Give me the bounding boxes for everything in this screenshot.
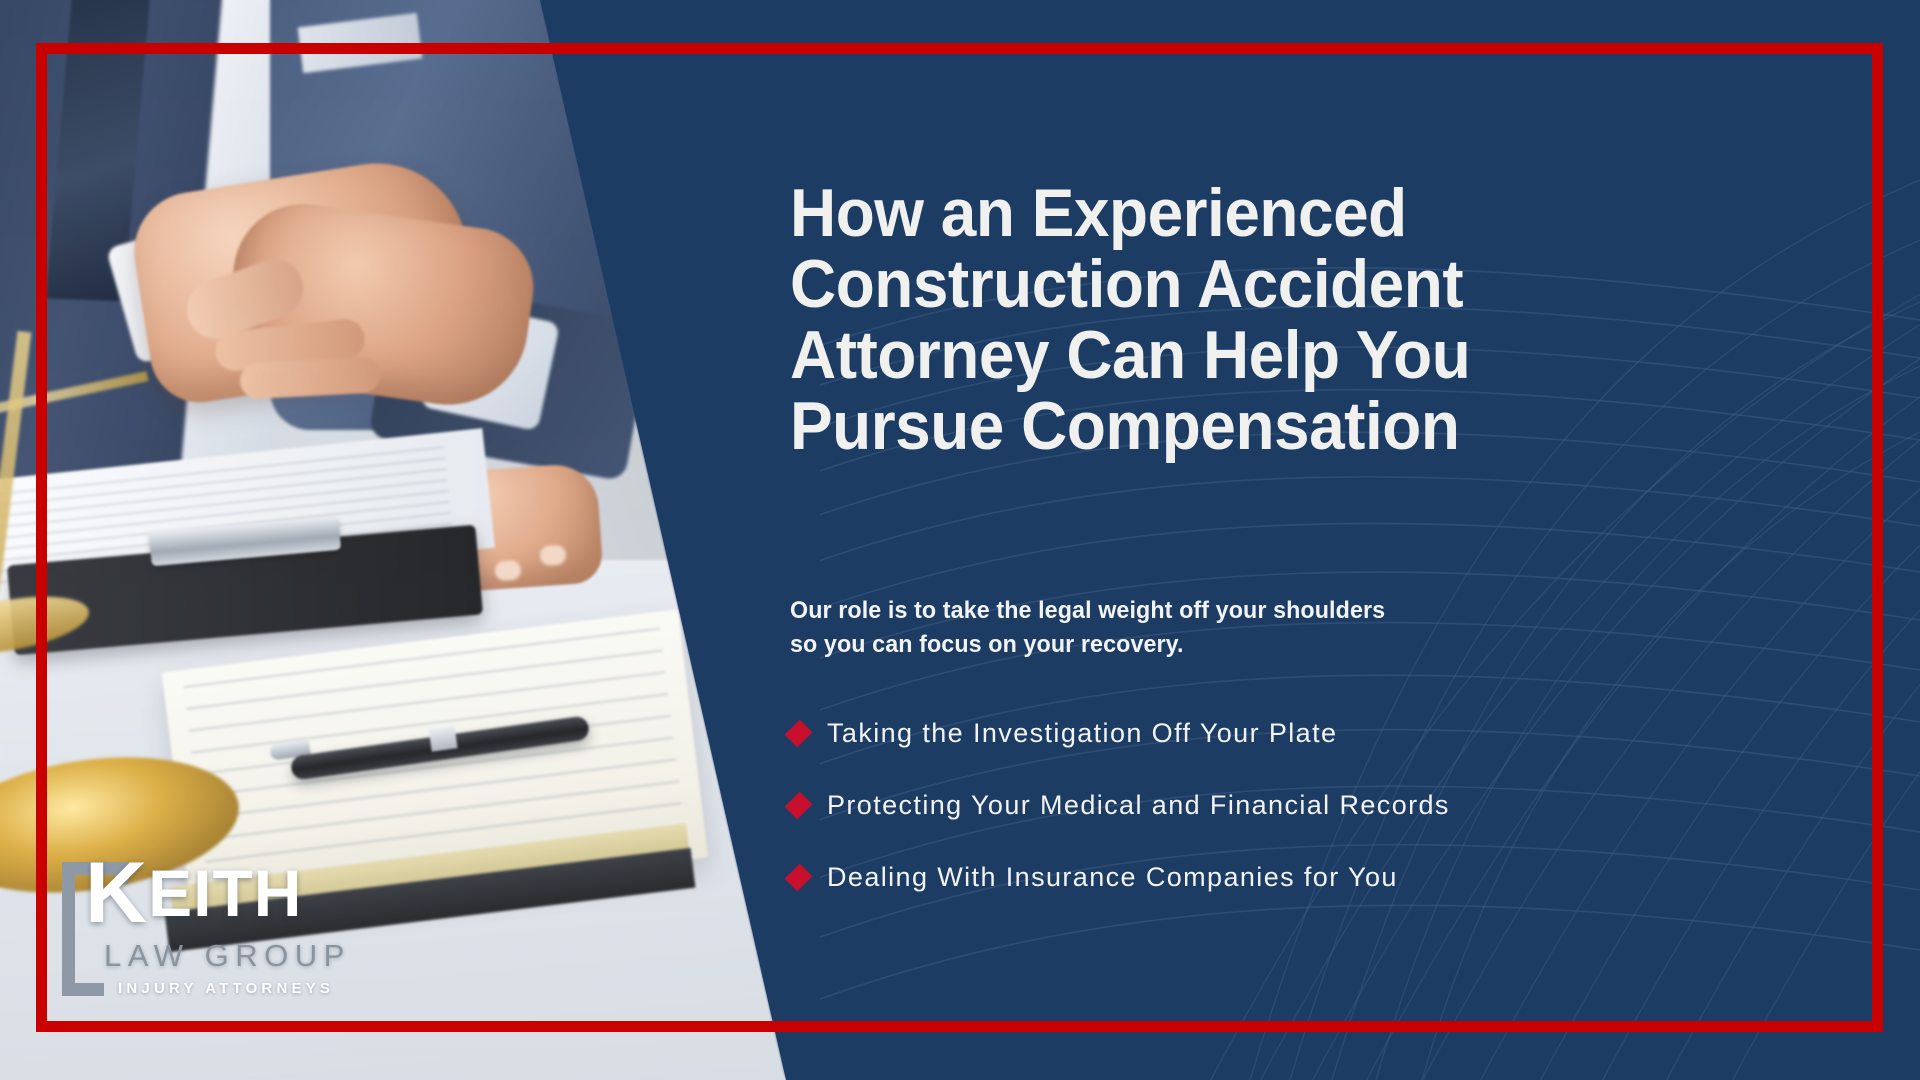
list-item: Dealing With Insurance Companies for You (790, 862, 1770, 892)
subheadline-line: Our role is to take the legal weight off… (790, 594, 1527, 628)
page-title: How an Experienced Construction Accident… (790, 178, 1730, 462)
list-item: Taking the Investigation Off Your Plate (790, 718, 1770, 748)
logo-tagline-primary: LAW GROUP (104, 938, 351, 974)
photo-finger (239, 356, 381, 399)
list-item-label: Dealing With Insurance Companies for You (827, 862, 1398, 892)
content-column: How an Experienced Construction Accident… (790, 0, 1850, 1080)
logo-tagline-secondary: INJURY ATTORNEYS (118, 980, 334, 997)
subheadline: Our role is to take the legal weight off… (790, 594, 1527, 662)
subheadline-line: so you can focus on your recovery. (790, 628, 1527, 662)
list-item-label: Taking the Investigation Off Your Plate (827, 718, 1337, 748)
list-item: Protecting Your Medical and Financial Re… (790, 790, 1770, 820)
benefit-list: Taking the Investigation Off Your Plate … (790, 718, 1770, 934)
logo-name-rest: EITH (148, 856, 302, 930)
logo-initial: K (85, 845, 148, 941)
headline-line: Construction Accident (790, 249, 1730, 320)
photo-pen-band (428, 724, 457, 751)
photo-fingernail (494, 560, 521, 582)
headline-line: Pursue Compensation (790, 391, 1730, 462)
logo-wordmark: KEITH (85, 860, 302, 926)
keith-law-group-logo: KEITH LAW GROUP INJURY ATTORNEYS (62, 862, 362, 1002)
graphic-canvas: How an Experienced Construction Accident… (0, 0, 1920, 1080)
headline-line: How an Experienced (790, 178, 1730, 249)
photo-fingernail (539, 544, 566, 566)
list-item-label: Protecting Your Medical and Financial Re… (827, 790, 1450, 820)
headline-line: Attorney Can Help You (790, 320, 1730, 391)
